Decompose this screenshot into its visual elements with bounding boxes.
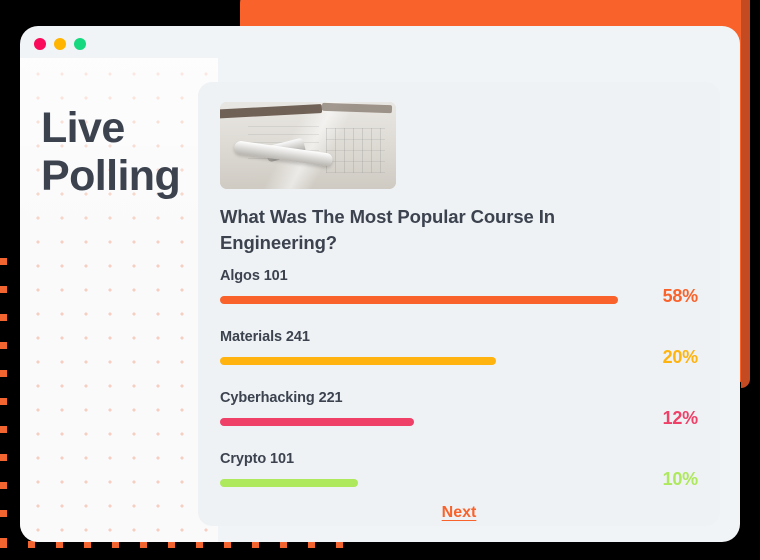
minimize-window-button[interactable] (54, 38, 66, 50)
poll-option-row[interactable]: Crypto 101 10% (198, 451, 720, 512)
poll-option-percent: 12% (663, 408, 698, 429)
window-titlebar (20, 26, 740, 84)
poll-card: What Was The Most Popular Course In Engi… (198, 82, 720, 526)
background-stage: Live Polling What Was The Most Popular C… (0, 0, 760, 560)
poll-option-bar-track (220, 479, 618, 487)
poll-option-label: Algos 101 (220, 268, 288, 284)
poll-option-label: Cyberhacking 221 (220, 390, 343, 406)
thumbnail-blueprint-lines-right (326, 128, 386, 173)
poll-option-row[interactable]: Algos 101 58% (198, 268, 720, 329)
decorative-dot-row (0, 541, 360, 549)
poll-option-row[interactable]: Cyberhacking 221 12% (198, 390, 720, 451)
close-window-button[interactable] (34, 38, 46, 50)
poll-option-percent: 20% (663, 347, 698, 368)
poll-options-list: Algos 101 58% Materials 241 20% Cyberhac… (198, 268, 720, 512)
poll-option-label: Materials 241 (220, 329, 310, 345)
poll-option-bar-fill (220, 296, 618, 304)
poll-option-bar-track (220, 296, 618, 304)
browser-window: Live Polling What Was The Most Popular C… (20, 26, 740, 542)
decorative-dot-column (0, 258, 8, 558)
poll-option-percent: 58% (663, 286, 698, 307)
poll-option-bar-fill (220, 479, 358, 487)
poll-option-label: Crypto 101 (220, 451, 294, 467)
poll-option-bar-track (220, 418, 618, 426)
traffic-lights (34, 38, 86, 50)
poll-thumbnail-image (220, 102, 396, 189)
poll-option-bar-fill (220, 357, 496, 365)
poll-option-row[interactable]: Materials 241 20% (198, 329, 720, 390)
decorative-orange-panel-edge (741, 0, 750, 388)
poll-option-percent: 10% (663, 469, 698, 490)
poll-option-bar-fill (220, 418, 414, 426)
poll-option-bar-track (220, 357, 618, 365)
next-button[interactable]: Next (442, 504, 477, 522)
page-title: Live Polling (41, 104, 201, 200)
poll-footer: Next (198, 504, 720, 522)
poll-question: What Was The Most Popular Course In Engi… (220, 204, 600, 257)
maximize-window-button[interactable] (74, 38, 86, 50)
